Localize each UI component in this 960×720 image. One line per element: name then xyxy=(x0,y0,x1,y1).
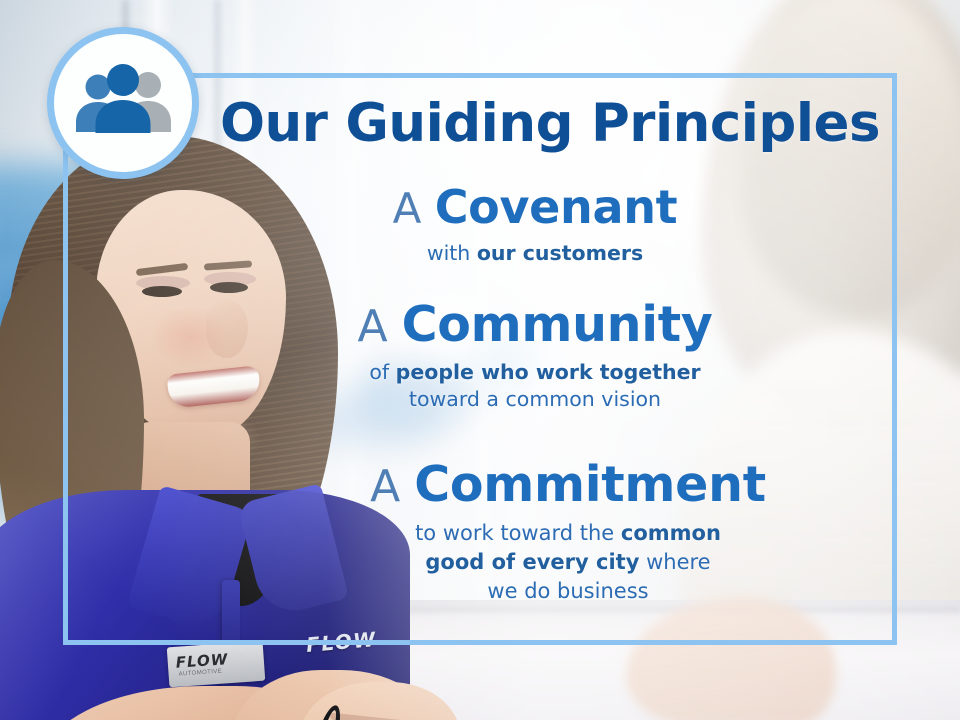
principle-keyword: Commitment xyxy=(414,456,766,513)
principle-subtext-line: good of every city where xyxy=(288,548,848,577)
principle-article: A xyxy=(393,184,435,233)
blurred-customer-hair xyxy=(740,0,960,320)
plain-text: toward a common vision xyxy=(409,387,661,411)
principle-subtext-line: of people who work together xyxy=(255,359,815,386)
principle-subtext: to work toward the commongood of every c… xyxy=(288,519,848,606)
emphasis-text: good of every city xyxy=(425,550,639,574)
employee-name-badge: FLOW AUTOMOTIVE xyxy=(167,641,266,688)
plain-text: of xyxy=(369,360,395,384)
plain-text: where xyxy=(639,550,710,574)
principle-article: A xyxy=(357,301,401,352)
emphasis-text: people who work together xyxy=(396,360,701,384)
emphasis-text: our customers xyxy=(477,241,643,265)
principle-block-covenant: A Covenant with our customers xyxy=(255,184,815,267)
principle-heading: A Covenant xyxy=(255,184,815,231)
principle-keyword: Covenant xyxy=(435,180,678,234)
plain-text: we do business xyxy=(487,579,648,603)
employee-eye xyxy=(142,286,182,297)
principle-heading: A Community xyxy=(255,300,815,350)
guiding-principles-banner: FLOW AUTOMOTIVE FLOW xyxy=(0,0,960,720)
page-title: Our Guiding Principles xyxy=(200,96,900,152)
principle-block-commitment: A Commitment to work toward the commongo… xyxy=(288,460,848,606)
principle-subtext-line: we do business xyxy=(288,577,848,606)
principle-article: A xyxy=(370,461,414,512)
principle-keyword: Community xyxy=(402,296,713,353)
people-group-icon xyxy=(69,63,177,143)
plain-text: with xyxy=(427,241,477,265)
principle-heading: A Commitment xyxy=(288,460,848,510)
principle-block-community: A Community of people who work togethert… xyxy=(255,300,815,413)
emphasis-text: common xyxy=(621,521,721,545)
plain-text: to work toward the xyxy=(415,521,621,545)
principle-subtext: of people who work togethertoward a comm… xyxy=(255,359,815,413)
people-badge xyxy=(47,27,199,179)
employee-eye xyxy=(210,282,248,293)
principle-subtext: with our customers xyxy=(255,240,815,267)
principle-subtext-line: toward a common vision xyxy=(255,386,815,413)
principle-subtext-line: to work toward the common xyxy=(288,519,848,548)
principle-subtext-line: with our customers xyxy=(255,240,815,267)
employee-nose xyxy=(206,300,248,358)
